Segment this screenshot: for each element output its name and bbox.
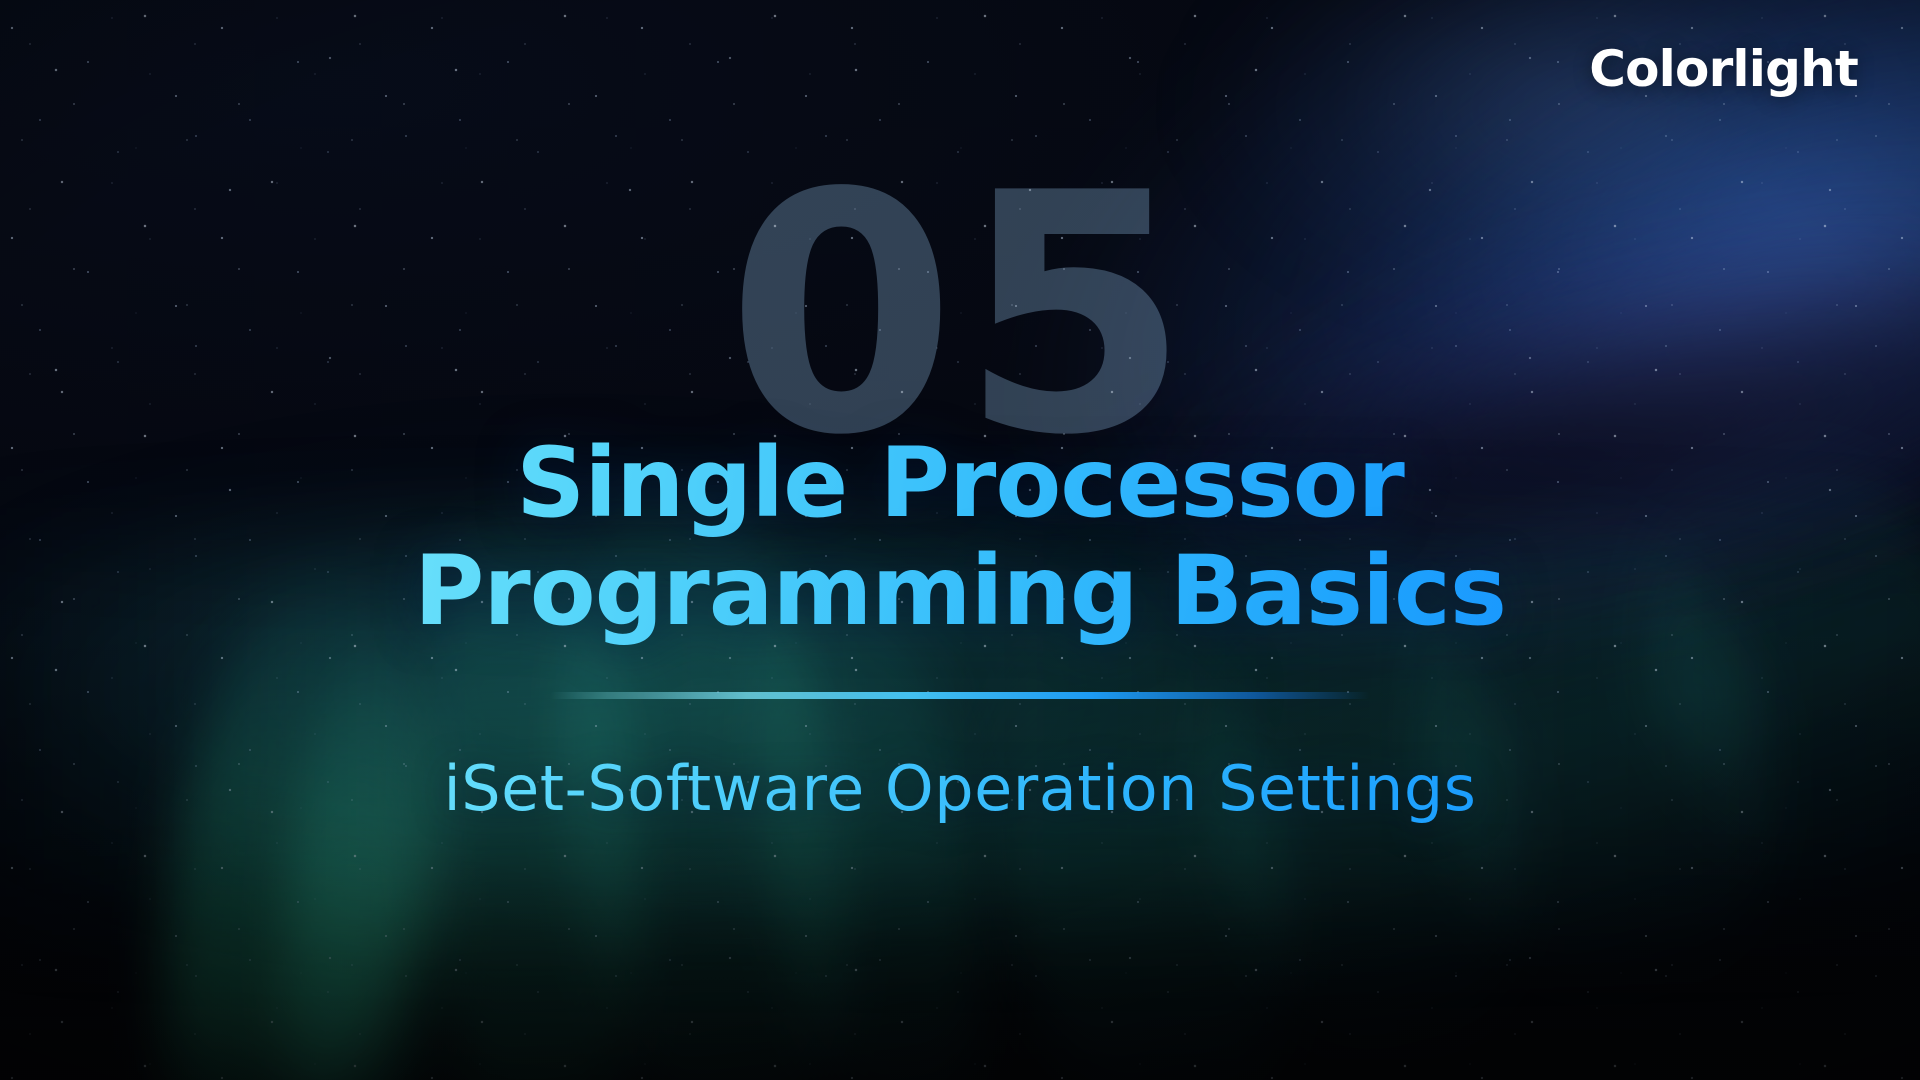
title-divider: [550, 692, 1370, 699]
page-title-line-2: Programming Basics: [0, 538, 1920, 646]
page-title-line-1: Single Processor: [0, 430, 1920, 538]
title-block: Single Processor Programming Basics: [0, 430, 1920, 645]
section-title-slide: Colorlight 05 Single Processor Programmi…: [0, 0, 1920, 1080]
page-subtitle: iSet-Software Operation Settings: [0, 752, 1920, 825]
colorlight-logo: Colorlight: [1589, 40, 1858, 98]
